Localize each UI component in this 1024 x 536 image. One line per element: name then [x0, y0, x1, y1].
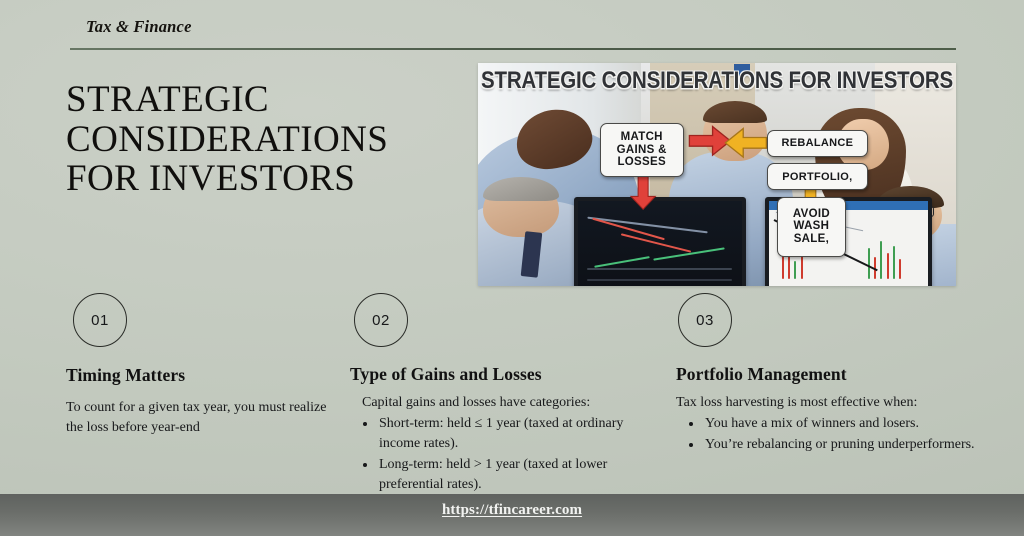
section-01-number-badge: 01: [73, 293, 127, 347]
page-title: STRATEGIC CONSIDERATIONS FOR INVESTORS: [66, 80, 466, 199]
list-item: You have a mix of winners and losers.: [703, 414, 976, 434]
callout-portfolio: PORTFOLIO,: [767, 163, 867, 190]
callout-avoid-wash-sale: AVOID WASH SALE,: [777, 197, 846, 257]
section-02-intro: Capital gains and losses have categories…: [350, 393, 650, 413]
page-title-line-1: STRATEGIC: [66, 80, 466, 120]
callout-match-gains-losses: MATCH GAINS & LOSSES: [600, 123, 684, 177]
list-item: Short-term: held ≤ 1 year (taxed at ordi…: [377, 414, 650, 454]
monitor-left-screen: [578, 201, 742, 286]
slide-canvas: Tax & Finance STRATEGIC CONSIDERATIONS F…: [0, 0, 1024, 536]
hero-photo: MATCH GAINS & LOSSES REBALANCE PORTFOLIO…: [478, 63, 956, 286]
section-03-intro: Tax loss harvesting is most effective wh…: [676, 393, 976, 413]
section-02-title: Type of Gains and Losses: [350, 364, 650, 385]
section-03-number-badge: 03: [678, 293, 732, 347]
monitor-left: [574, 197, 746, 286]
section-01: 01 Timing Matters To count for a given t…: [66, 293, 328, 439]
callout-rebalance: REBALANCE: [767, 130, 867, 157]
list-item: Long-term: held > 1 year (taxed at lower…: [377, 455, 650, 495]
section-02-number-badge: 02: [354, 293, 408, 347]
list-item: You’re rebalancing or pruning underperfo…: [703, 435, 976, 455]
section-01-body: To count for a given tax year, you must …: [66, 398, 328, 438]
red-down-arrow-icon: [624, 175, 662, 211]
footer-band: https://tfincareer.com: [0, 494, 1024, 536]
section-03: 03 Portfolio Management Tax loss harvest…: [676, 293, 976, 456]
section-02-body: Capital gains and losses have categories…: [350, 393, 650, 494]
page-title-line-3: FOR INVESTORS: [66, 159, 466, 199]
footer-website-link[interactable]: https://tfincareer.com: [0, 502, 1024, 519]
section-03-body: Tax loss harvesting is most effective wh…: [676, 393, 976, 455]
section-03-bullet-list: You have a mix of winners and losers. Yo…: [676, 414, 976, 455]
photo-banner-title: STRATEGIC CONSIDERATIONS FOR INVESTORS: [478, 67, 956, 95]
section-03-title: Portfolio Management: [676, 364, 976, 385]
header-divider: [70, 48, 956, 50]
section-02: 02 Type of Gains and Losses Capital gain…: [350, 293, 650, 495]
section-01-intro: To count for a given tax year, you must …: [66, 398, 328, 438]
kicker-label: Tax & Finance: [86, 17, 192, 37]
section-01-title: Timing Matters: [66, 365, 328, 386]
section-02-bullet-list: Short-term: held ≤ 1 year (taxed at ordi…: [350, 414, 650, 495]
page-title-line-2: CONSIDERATIONS: [66, 120, 466, 160]
yellow-left-arrow-icon: [722, 125, 770, 161]
